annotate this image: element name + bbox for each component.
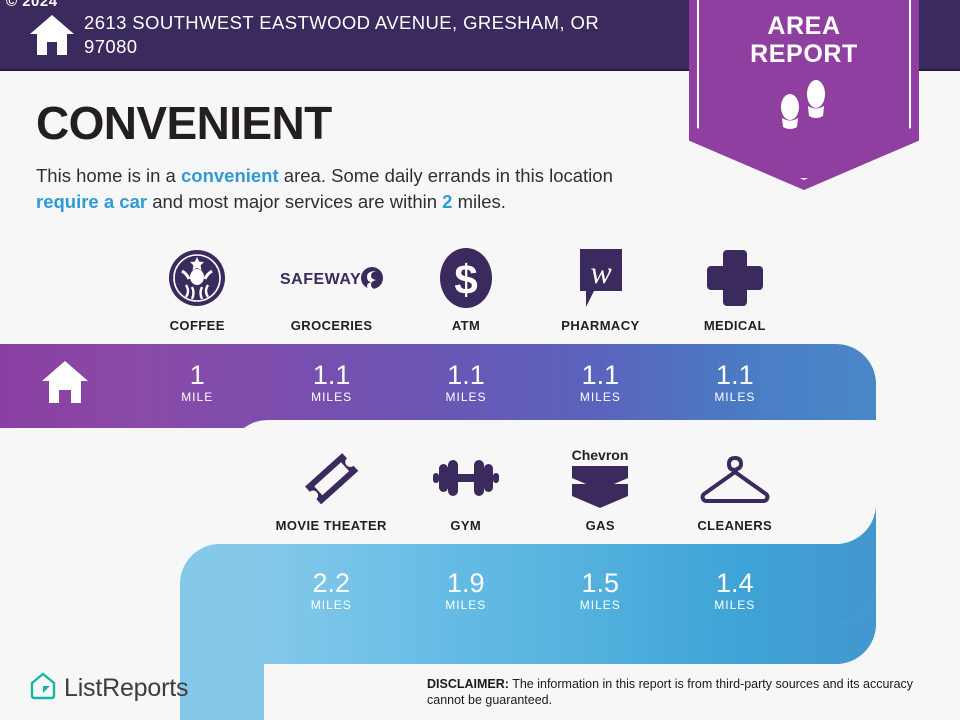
dollar-icon: $ [438, 246, 494, 310]
amenity-label: COFFEE [170, 318, 225, 333]
summary-part-4: miles. [452, 191, 505, 212]
distance-cell: 1.4 MILES [668, 552, 803, 628]
movie-ticket-icon [300, 446, 362, 510]
summary-part-1: This home is in a [36, 165, 181, 186]
amenity-cleaners: CLEANERS [668, 446, 803, 533]
distance-unit: MILES [714, 598, 755, 612]
disclaimer: DISCLAIMER: The information in this repo… [427, 676, 927, 708]
amenity-label: CLEANERS [697, 518, 772, 533]
distance-row-2: 2.2 MILES 1.9 MILES 1.5 MILES 1.4 MILES [264, 552, 802, 628]
distance-cell: 1.9 MILES [399, 552, 534, 628]
amenity-gym: GYM [399, 446, 534, 533]
safeway-logo: SAFEWAY [280, 246, 384, 310]
distance-cell: 1.5 MILES [533, 552, 668, 628]
distance-unit: MILES [311, 598, 352, 612]
amenity-coffee: COFFEE [130, 246, 264, 333]
summary-highlight-2: require a car [36, 191, 147, 212]
badge-title-line1: AREA [689, 12, 919, 40]
distance-row-1: 1 MILE 1.1 MILES 1.1 MILES 1.1 MILES 1.1… [0, 344, 802, 420]
amenity-groceries: SAFEWAY GROCERIES [264, 246, 398, 333]
amenity-label: GYM [450, 518, 481, 533]
distance-unit: MILES [311, 390, 352, 404]
amenity-icon-row-1: COFFEE SAFEWAY GROCERIES $ ATM w PH [130, 246, 802, 333]
amenity-label: PHARMACY [561, 318, 639, 333]
home-icon [26, 13, 78, 57]
badge-title-line2: REPORT [689, 40, 919, 68]
listreports-house-icon [30, 672, 56, 705]
listreports-wordmark: ListReports [64, 674, 188, 703]
distance-unit: MILES [714, 390, 755, 404]
distance-value: 1.9 [447, 569, 485, 597]
distance-value: 2.2 [312, 569, 350, 597]
distance-value: 1.1 [582, 361, 620, 389]
distance-value: 1.5 [581, 569, 619, 597]
summary-text: This home is in a convenient area. Some … [36, 163, 676, 215]
distance-unit: MILES [446, 390, 487, 404]
distance-value: 1.4 [716, 569, 754, 597]
svg-text:SAFEWAY: SAFEWAY [280, 271, 361, 288]
disclaimer-label: DISCLAIMER: [427, 677, 509, 691]
area-report-badge: AREA REPORT [689, 0, 919, 190]
dumbbell-icon [433, 446, 499, 510]
amenity-atm: $ ATM [399, 246, 533, 333]
amenity-icon-row-2: MOVIE THEATER GYM Chevron GAS [264, 446, 802, 533]
distance-value: 1.1 [447, 361, 485, 389]
svg-text:$: $ [454, 256, 477, 303]
amenity-label: MOVIE THEATER [276, 518, 387, 533]
page-title: CONVENIENT [36, 96, 332, 150]
distance-cell: 1.1 MILES [264, 344, 398, 420]
summary-part-2: area. Some daily errands in this locatio… [279, 165, 613, 186]
distance-cell: 1.1 MILES [399, 344, 533, 420]
chevron-logo: Chevron [564, 446, 636, 510]
footprints-icon [689, 72, 919, 134]
amenity-pharmacy: w PHARMACY [533, 246, 667, 333]
svg-text:Chevron: Chevron [572, 447, 629, 463]
svg-text:w: w [591, 254, 613, 290]
amenity-label: MEDICAL [704, 318, 766, 333]
property-address: 2613 SOUTHWEST EASTWOOD AVENUE, GRESHAM,… [84, 11, 644, 59]
distance-value: 1 [190, 361, 205, 389]
distance-cell: 2.2 MILES [264, 552, 399, 628]
walgreens-logo: w [572, 246, 628, 310]
amenity-label: GROCERIES [291, 318, 373, 333]
listreports-logo: ListReports [30, 672, 188, 705]
medical-cross-icon [705, 246, 765, 310]
amenity-label: ATM [452, 318, 480, 333]
amenity-movie-theater: MOVIE THEATER [264, 446, 399, 533]
summary-part-3: and most major services are within [147, 191, 442, 212]
amenity-label: GAS [586, 518, 615, 533]
starbucks-logo [168, 246, 226, 310]
distance-value: 1.1 [716, 361, 754, 389]
distance-cell: 1.1 MILES [533, 344, 667, 420]
badge-title: AREA REPORT [689, 12, 919, 68]
distance-unit: MILE [181, 390, 213, 404]
copyright-text: © 2024 [6, 0, 58, 10]
hanger-icon [698, 446, 772, 510]
distance-unit: MILES [445, 598, 486, 612]
home-marker [0, 344, 130, 420]
distance-cell: 1 MILE [130, 344, 264, 420]
distance-unit: MILES [580, 390, 621, 404]
summary-highlight-3: 2 [442, 191, 452, 212]
distance-value: 1.1 [313, 361, 351, 389]
distance-cell: 1.1 MILES [668, 344, 802, 420]
amenity-gas: Chevron GAS [533, 446, 668, 533]
summary-highlight-1: convenient [181, 165, 279, 186]
amenity-medical: MEDICAL [668, 246, 802, 333]
distance-unit: MILES [580, 598, 621, 612]
